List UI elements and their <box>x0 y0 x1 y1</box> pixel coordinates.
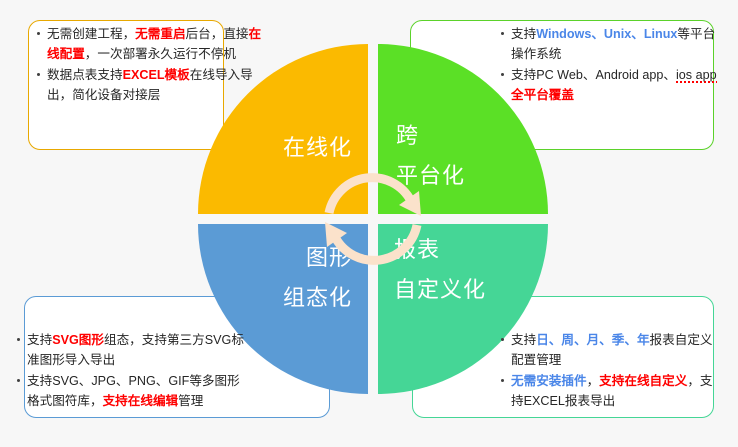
quadrant-label-graphics-line2: 组态化 <box>198 278 352 318</box>
quadrant-label-online: 在线化 <box>198 128 368 164</box>
quadrant-label-cross-platform-line1: 跨 <box>396 116 548 156</box>
callout-list-item: 无需安装插件，支持在线自定义，支持EXCEL报表导出 <box>500 371 722 411</box>
callout-list-cross-platform: 支持Windows、Unix、Linux等平台操作系统支持PC Web、Andr… <box>500 24 724 105</box>
callout-text-cross-platform: 支持Windows、Unix、Linux等平台操作系统支持PC Web、Andr… <box>500 24 724 106</box>
callout-list-item: 支持Windows、Unix、Linux等平台操作系统 <box>500 24 724 64</box>
callout-text-graphics: 支持SVG图形组态，支持第三方SVG标准图形导入导出支持SVG、JPG、PNG、… <box>16 330 248 412</box>
callout-list-item: 无需创建工程，无需重启后台，直接在线配置，一次部署永久运行不停机 <box>36 24 268 64</box>
callout-list-item: 支持PC Web、Android app、ios app全平台覆盖 <box>500 65 724 105</box>
callout-list-item: 支持日、周、月、季、年报表自定义配置管理 <box>500 330 722 370</box>
cycle-arrows-icon <box>315 161 431 277</box>
callout-text-report: 支持日、周、月、季、年报表自定义配置管理无需安装插件，支持在线自定义，支持EXC… <box>500 330 722 412</box>
callout-list-item: 支持SVG、JPG、PNG、GIF等多图形格式图符库，支持在线编辑管理 <box>16 371 248 411</box>
callout-list-item: 支持SVG图形组态，支持第三方SVG标准图形导入导出 <box>16 330 248 370</box>
callout-list-item: 数据点表支持EXCEL模板在线导入导出，简化设备对接层 <box>36 65 268 105</box>
callout-text-online: 无需创建工程，无需重启后台，直接在线配置，一次部署永久运行不停机数据点表支持EX… <box>36 24 268 106</box>
infographic-canvas: 在线化 跨 平台化 图形 组态化 报表 自定义化 无需创建工程，无需重启后台，直… <box>0 0 738 447</box>
callout-list-graphics: 支持SVG图形组态，支持第三方SVG标准图形导入导出支持SVG、JPG、PNG、… <box>16 330 248 411</box>
callout-list-report: 支持日、周、月、季、年报表自定义配置管理无需安装插件，支持在线自定义，支持EXC… <box>500 330 722 411</box>
callout-list-online: 无需创建工程，无需重启后台，直接在线配置，一次部署永久运行不停机数据点表支持EX… <box>36 24 268 105</box>
